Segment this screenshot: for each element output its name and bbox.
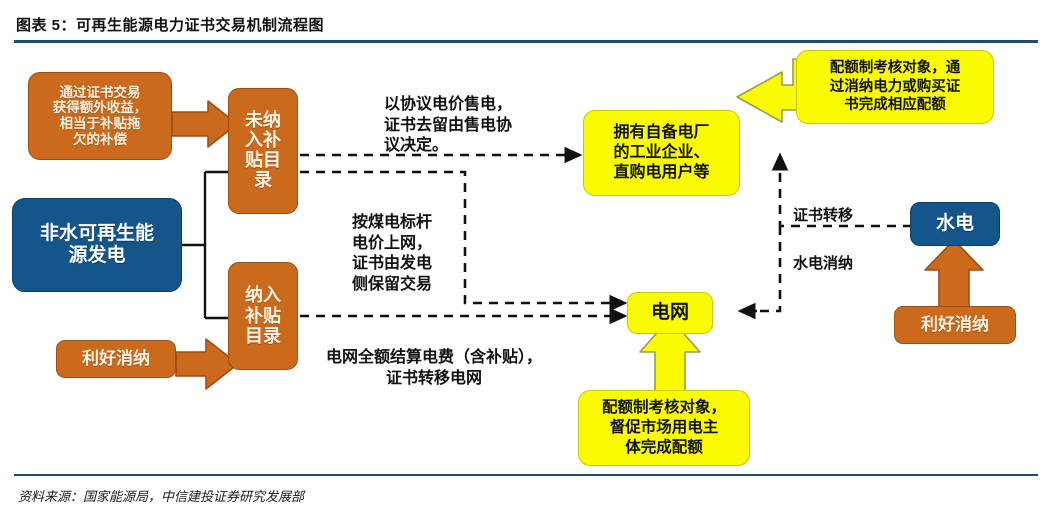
- node-benefit-consumption-right-label: 利好消纳: [895, 315, 1015, 335]
- node-benefit-consumption-left-label: 利好消纳: [57, 349, 175, 369]
- node-grid-label: 电网: [628, 302, 712, 324]
- node-quota-top-right-label: 配额制考核对象，通 过消纳电力或购买证 书完成相应配额: [797, 59, 993, 115]
- node-in-catalog-label: 纳入 补贴 目录: [229, 285, 297, 347]
- dashed-flow-hydro-to-grid: [740, 226, 780, 311]
- node-nonhydro-renewable[interactable]: 非水可再生能 源发电: [12, 198, 182, 292]
- diagram-canvas: 图表 5：可再生能源电力证书交易机制流程图: [0, 0, 1052, 517]
- annotation-hydro-consumption-text: 水电消纳: [793, 255, 853, 272]
- node-quota-top-right[interactable]: 配额制考核对象，通 过消纳电力或购买证 书完成相应配额: [796, 50, 994, 124]
- annotation-hydro-consumption: 水电消纳: [793, 234, 853, 273]
- footer-divider: [14, 474, 1038, 476]
- node-benefit-consumption-right[interactable]: 利好消纳: [894, 306, 1016, 344]
- node-not-in-catalog-label: 未纳 入补 贴目 录: [229, 111, 297, 190]
- annotation-grid-settlement-text: 电网全额结算电费（含补贴）， 证书转移电网: [326, 349, 542, 387]
- arrow-benefit-to-hydro: [925, 240, 983, 308]
- node-benefit-consumption-left[interactable]: 利好消纳: [56, 340, 176, 378]
- annotation-agreement-price: 以协议电价售电， 证书去留由售电协 议决定。: [384, 74, 512, 157]
- split-connector: [182, 172, 228, 318]
- node-hydro[interactable]: 水电: [910, 202, 1000, 246]
- source-note: 资料来源：国家能源局，中信建投证券研究发展部: [18, 486, 304, 505]
- annotation-cert-transfer-text: 证书转移: [793, 207, 853, 224]
- node-quota-bottom-label: 配额制考核对象， 督促市场用电主 体完成配额: [579, 398, 749, 458]
- dashed-flow-uncatalogued-to-grid: [300, 172, 625, 303]
- node-grid[interactable]: 电网: [627, 292, 713, 334]
- node-extra-income-callout-label: 通过证书交易 获得额外收益， 相当于补贴拖 欠的补偿: [29, 85, 171, 148]
- node-not-in-catalog[interactable]: 未纳 入补 贴目 录: [228, 88, 298, 214]
- annotation-cert-transfer: 证书转移: [793, 186, 853, 225]
- arrow-quota-to-industry: [737, 59, 800, 122]
- node-hydro-label: 水电: [911, 213, 999, 235]
- node-industrial-users[interactable]: 拥有自备电厂 的工业企业、 直购电用户等: [583, 110, 740, 196]
- node-in-catalog[interactable]: 纳入 补贴 目录: [228, 262, 298, 370]
- annotation-agreement-price-text: 以协议电价售电， 证书去留由售电协 议决定。: [384, 96, 512, 155]
- node-extra-income-callout[interactable]: 通过证书交易 获得额外收益， 相当于补贴拖 欠的补偿: [28, 72, 172, 160]
- node-nonhydro-renewable-label: 非水可再生能 源发电: [13, 223, 181, 267]
- annotation-coal-benchmark: 按煤电标杆 电价上网， 证书由发电 侧保留交易: [352, 192, 432, 296]
- annotation-coal-benchmark-text: 按煤电标杆 电价上网， 证书由发电 侧保留交易: [352, 214, 432, 293]
- annotation-grid-settlement: 电网全额结算电费（含补贴）， 证书转移电网: [326, 327, 542, 389]
- node-quota-bottom[interactable]: 配额制考核对象， 督促市场用电主 体完成配额: [578, 390, 750, 466]
- node-industrial-users-label: 拥有自备电厂 的工业企业、 直购电用户等: [584, 123, 739, 183]
